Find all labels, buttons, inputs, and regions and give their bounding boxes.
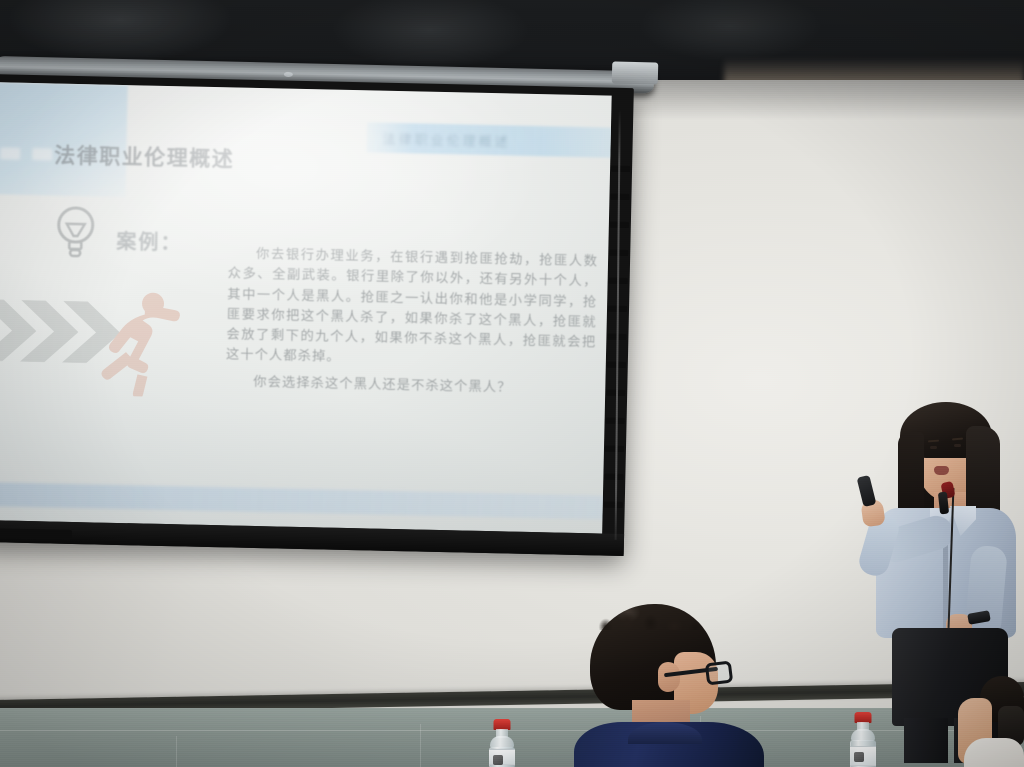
- eyeglasses-lens-icon: [705, 660, 733, 685]
- projection-screen: 法律职业伦理概述 法律职业伦理概述 案例：: [0, 74, 634, 556]
- lightbulb-icon: [52, 203, 99, 260]
- bottle-label: [489, 749, 515, 765]
- bottle-label: [850, 746, 876, 766]
- screen-tension-tab: [604, 474, 623, 480]
- screen-tension-tab: [604, 502, 623, 508]
- water-bottle-left: [487, 719, 517, 767]
- slide-header-band: 法律职业伦理概述: [366, 122, 611, 158]
- screen-tension-tab: [611, 166, 630, 172]
- screen-tension-tab: [610, 194, 629, 200]
- audience-ear: [658, 662, 680, 692]
- slide-body-text: 你去银行办理业务，在银行遇到抢匪抢劫，抢匪人数众多、全副武装。银行里除了你以外，…: [225, 243, 598, 399]
- slide-footer-band: [0, 482, 612, 520]
- water-bottle-right: [848, 712, 878, 767]
- audience-member-foreground: [568, 604, 768, 767]
- slide-corner-block: [32, 148, 52, 160]
- audience-hair-texture: [594, 600, 712, 630]
- presenter-leg-left: [904, 718, 948, 763]
- presenter-eye-right: [954, 444, 961, 447]
- screen-surface: 法律职业伦理概述 法律职业伦理概述 案例：: [0, 82, 612, 533]
- slide-question-paragraph: 你会选择杀这个黑人还是不杀这个黑人？: [225, 371, 595, 399]
- slide-corner-block: [0, 147, 20, 159]
- screen-bottom-weight: [0, 528, 72, 540]
- projected-slide: 法律职业伦理概述 法律职业伦理概述 案例：: [0, 82, 612, 533]
- audience-member-right-edge: [958, 676, 1024, 767]
- slide-title: 法律职业伦理概述: [54, 140, 235, 174]
- running-person-icon: [73, 285, 185, 397]
- projector-screen-roller-cap: [612, 61, 659, 84]
- presentation-clicker: [857, 475, 877, 507]
- slide-paragraph: 你去银行办理业务，在银行遇到抢匪抢劫，抢匪人数众多、全副武装。银行里除了你以外，…: [226, 243, 599, 373]
- audience-right-clothing: [964, 738, 1024, 767]
- presenter-eye-left: [930, 446, 937, 449]
- runner-graphic-group: [0, 277, 186, 391]
- case-label: 案例：: [116, 225, 183, 255]
- lecture-hall-photo: 法律职业伦理概述 法律职业伦理概述 案例：: [0, 0, 1024, 767]
- slide-header-band-text: 法律职业伦理概述: [382, 129, 510, 151]
- presenter-mouth: [934, 466, 949, 475]
- floor-seam: [176, 736, 177, 767]
- floor-seam: [420, 724, 421, 767]
